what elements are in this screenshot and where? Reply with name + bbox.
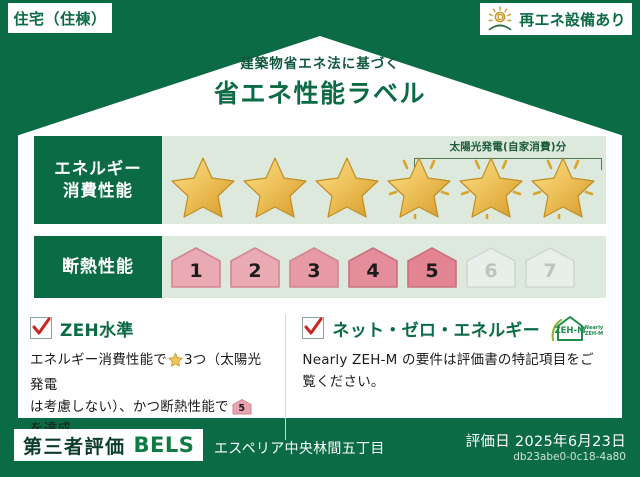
insulation-badge-6: 6 [463,245,519,289]
svg-text:ZEH-M: ZEH-M [554,326,585,336]
inline-insulation-badge-icon: 5 [231,398,253,415]
star-icon-6-solar [528,153,598,219]
inline-badge-value: 5 [231,398,253,415]
label-title-block: 建築物省エネ法に基づく 省エネ性能ラベル [0,58,640,106]
insulation-badge-2: 2 [227,245,283,289]
insulation-badge-value: 4 [345,245,401,289]
insulation-label: 断熱性能 [62,256,134,279]
renewable-energy-label: 再エネ設備あり [519,9,625,30]
insulation-badge-3: 3 [286,245,342,289]
title-subtitle: 建築物省エネ法に基づく [0,58,640,72]
star-icon-2 [240,153,310,219]
insulation-badge-value: 7 [522,245,578,289]
insulation-badge-value: 2 [227,245,283,289]
renewable-energy-badge: 再エネ設備あり [480,3,632,35]
net-zero-energy-text: Nearly ZEH-M の要件は評価書の特記項目をご覧ください。 [302,350,606,394]
star-icon-4-solar [384,153,454,219]
zeh-standard-checkbox[interactable] [30,317,52,339]
insulation-badge-value: 6 [463,245,519,289]
zeh-standard-header: ZEH水準 [30,314,265,342]
insulation-badge-1: 1 [168,245,224,289]
bels-english-label: BELS [134,433,195,457]
insulation-performance-label-box: 断熱性能 [34,236,162,298]
insulation-badge-value: 5 [404,245,460,289]
solar-bracket-caption: 太陽光発電(自家消費)分 [414,139,602,154]
star-icon-1 [168,153,238,219]
sun-renewable-icon [486,6,514,32]
insulation-badge-list: 1 2 3 4 [162,245,578,289]
energy-label-line1: エネルギー [54,158,142,180]
zeh-text-part1: エネルギー消費性能で [30,352,167,368]
building-type-badge: 住宅（住棟） [8,3,112,33]
energy-performance-stars-panel: 太陽光発電(自家消費)分 [162,136,606,224]
net-zero-energy-checkbox[interactable] [302,317,324,339]
svg-text:ZEH-M: ZEH-M [585,331,603,337]
insulation-badge-value: 1 [168,245,224,289]
insulation-badge-7: 7 [522,245,578,289]
inline-star-icon [168,352,183,375]
zeh-standard-title: ZEH水準 [60,316,134,341]
insulation-badge-5: 5 [404,245,460,289]
zeh-m-logo-icon: ZEH-M Nearly ZEH-M [550,313,606,343]
building-type-label: 住宅（住棟） [13,8,106,29]
energy-performance-row: エネルギー 消費性能 太陽光発電(自家消費)分 [34,136,606,224]
star-rating [162,153,598,219]
insulation-badge-value: 3 [286,245,342,289]
energy-performance-label: 住宅（住棟） 再エネ設備あり 建築 [0,0,640,477]
net-zero-energy-header: ネット・ゼロ・エネルギー ZEH-M Nearly ZEH-M [302,314,606,342]
building-name: エスペリア中央林間五丁目 [214,438,385,458]
insulation-badges-panel: 1 2 3 4 [162,236,606,298]
zeh-text-part3: は考慮しない）、かつ断熱性能で [30,399,229,415]
energy-label-line2: 消費性能 [63,180,133,202]
bels-badge: 第三者評価 BELS [14,429,203,461]
bels-japanese-label: 第三者評価 [23,432,126,459]
star-icon-3 [312,153,382,219]
label-footer: 第三者評価 BELS エスペリア中央林間五丁目 評価日 2025年6月23日 d… [0,420,640,477]
evaluation-date: 評価日 2025年6月23日 [466,430,626,451]
net-zero-energy-title: ネット・ゼロ・エネルギー [332,316,540,341]
insulation-performance-row: 断熱性能 1 2 [34,236,606,298]
title-main: 省エネ性能ラベル [0,81,640,106]
star-icon-5-solar [456,153,526,219]
evaluation-id: db23abe0-0c18-4a80 [513,451,626,463]
insulation-badge-4: 4 [345,245,401,289]
energy-performance-label-box: エネルギー 消費性能 [34,136,162,224]
